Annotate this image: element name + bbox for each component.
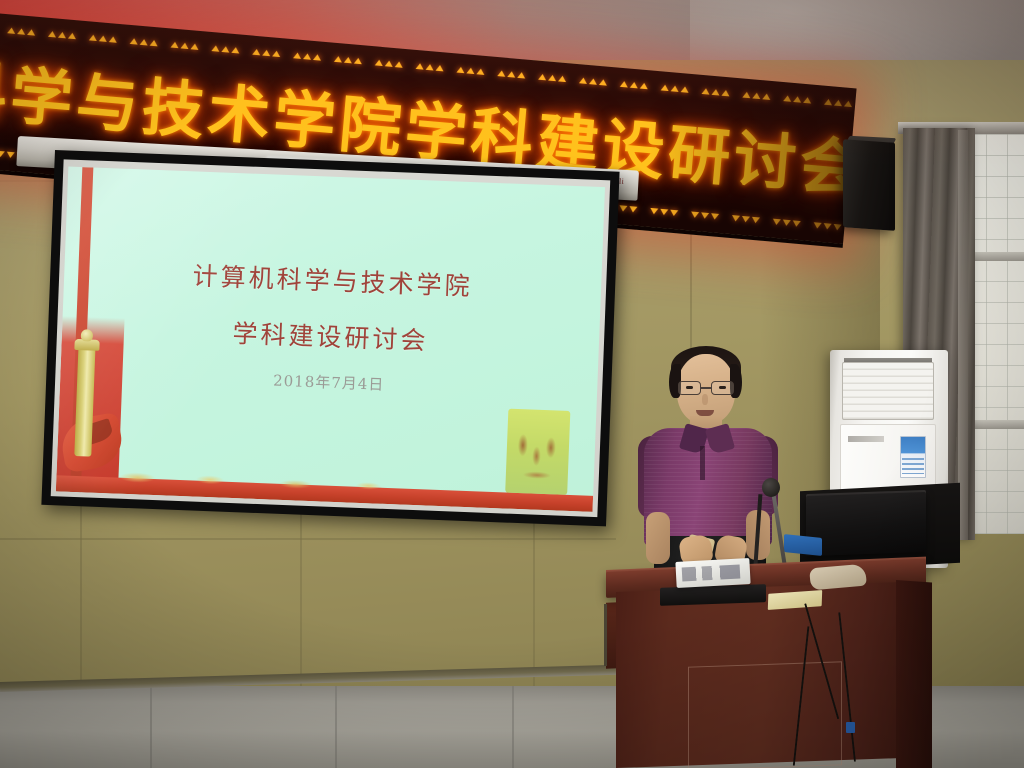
presenter-eye-left	[686, 386, 693, 389]
dark-device-on-podium[interactable]	[660, 584, 766, 606]
wall-seam-horizontal	[0, 538, 616, 540]
glasses-bridge	[701, 387, 711, 389]
slide-decor-right	[497, 388, 580, 511]
blue-cable-clip	[846, 722, 855, 733]
slide-decor-right-glyphs	[509, 417, 566, 489]
desktop-monitor[interactable]	[806, 492, 926, 556]
screen-surface: 计算机科学与技术学院 学科建设研讨会 2018年7月4日	[51, 159, 611, 517]
floor-tile-seam	[335, 686, 337, 768]
slide-title-block: 计算机科学与技术学院 学科建设研讨会	[62, 251, 602, 364]
room-photo-scene: 科学与技术学院学科建设研讨会	[0, 0, 1024, 768]
ac-energy-label-bars	[902, 458, 924, 474]
projection-screen: 计算机科学与技术学院 学科建设研讨会 2018年7月4日	[41, 150, 619, 526]
presenter-shirt-placket	[700, 446, 705, 480]
slide-title-line1: 计算机科学与技术学院	[64, 251, 602, 308]
presenter-nose	[702, 394, 708, 405]
wall-speaker	[843, 139, 895, 231]
presenter-forearm-left	[646, 512, 670, 564]
presentation-slide: 计算机科学与技术学院 学科建设研讨会 2018年7月4日	[56, 167, 605, 512]
floor-tile-seam	[512, 686, 514, 768]
presenter-eye-right	[719, 386, 726, 389]
podium-side-face	[896, 580, 932, 768]
ac-brand-logo	[848, 436, 884, 442]
floor-tile-seam	[150, 686, 152, 768]
wall-seam-vertical	[300, 505, 302, 690]
led-banner-falloff	[644, 71, 857, 244]
slide-title-line2: 学科建设研讨会	[62, 307, 600, 364]
wall-seam-vertical	[533, 500, 535, 686]
microphone-head-icon	[762, 478, 780, 497]
ac-grille	[842, 362, 934, 420]
slide-date: 2018年7月4日	[60, 361, 597, 403]
curtain-fold-highlight	[958, 130, 968, 540]
wall-cable	[604, 604, 607, 666]
